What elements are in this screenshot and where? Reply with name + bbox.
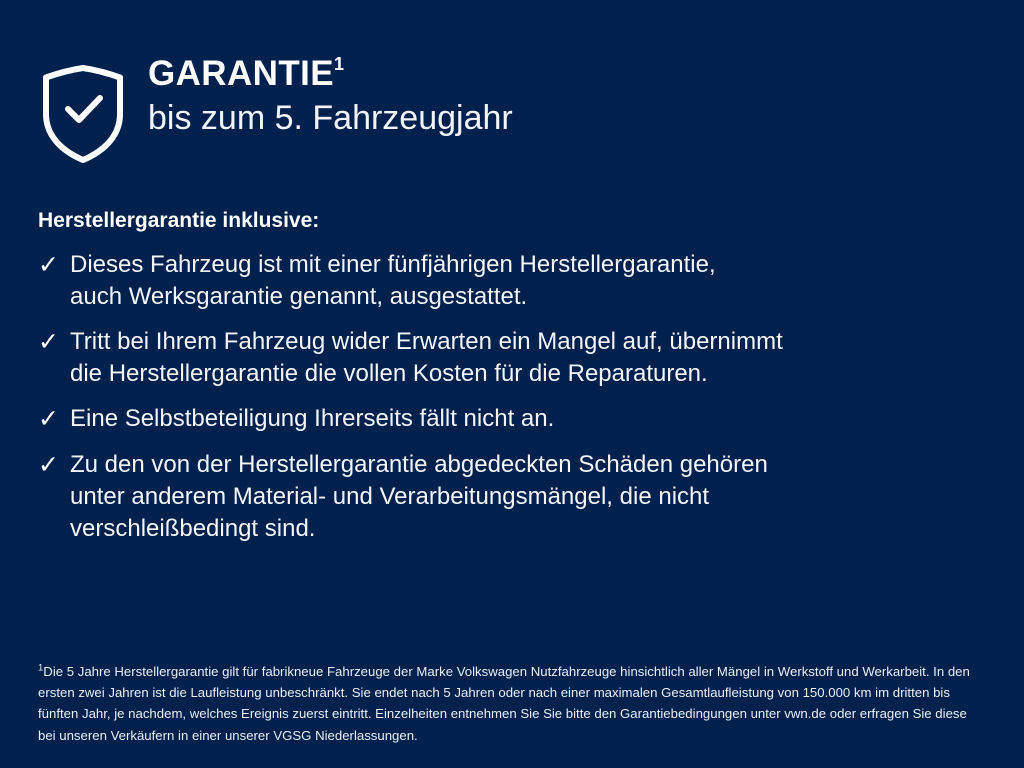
check-icon: ✓ — [38, 449, 70, 482]
check-icon: ✓ — [38, 249, 70, 282]
page-title-label: GARANTIE — [148, 54, 334, 93]
check-icon: ✓ — [38, 326, 70, 359]
list-item: ✓ Tritt bei Ihrem Fahrzeug wider Erwarte… — [38, 326, 988, 390]
check-icon: ✓ — [38, 403, 70, 436]
list-item: ✓ Zu den von der Herstellergarantie abge… — [38, 449, 988, 545]
header-text: GARANTIE1 bis zum 5. Fahrzeugjahr — [148, 56, 513, 137]
list-item: ✓ Dieses Fahrzeug ist mit einer fünfjähr… — [38, 249, 988, 313]
garantie-info-panel: GARANTIE1 bis zum 5. Fahrzeugjahr Herste… — [0, 0, 1024, 768]
footnote: 1Die 5 Jahre Herstellergarantie gilt für… — [38, 661, 984, 747]
footnote-text: Die 5 Jahre Herstellergarantie gilt für … — [38, 664, 970, 743]
list-item: ✓ Eine Selbstbeteiligung Ihrerseits fäll… — [38, 403, 988, 436]
header: GARANTIE1 bis zum 5. Fahrzeugjahr — [40, 56, 513, 166]
benefits-list: ✓ Dieses Fahrzeug ist mit einer fünfjähr… — [38, 249, 988, 544]
list-item-text: Tritt bei Ihrem Fahrzeug wider Erwarten … — [70, 326, 783, 390]
content-body: Herstellergarantie inklusive: ✓ Dieses F… — [38, 208, 988, 545]
page-subtitle: bis zum 5. Fahrzeugjahr — [148, 99, 513, 137]
list-item-text: Eine Selbstbeteiligung Ihrerseits fällt … — [70, 403, 554, 435]
list-item-text: Dieses Fahrzeug ist mit einer fünfjährig… — [70, 249, 716, 313]
page-title: GARANTIE1 — [148, 56, 513, 93]
title-footnote-marker: 1 — [334, 54, 344, 74]
shield-check-icon — [40, 62, 126, 166]
intro-heading: Herstellergarantie inklusive: — [38, 208, 988, 233]
list-item-text: Zu den von der Herstellergarantie abgede… — [70, 449, 768, 545]
